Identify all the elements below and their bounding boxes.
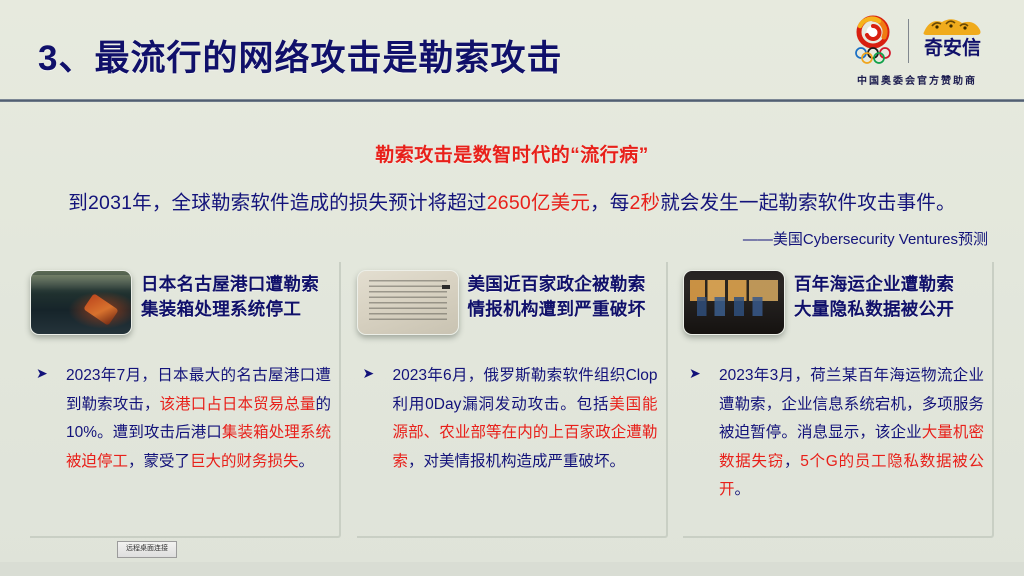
case-card-text: 2023年3月，荷兰某百年海运物流企业遭勒索，企业信息系统宕机，多项服务被迫暂停… bbox=[689, 362, 984, 505]
case-card-text: 2023年6月，俄罗斯勒索软件组织Clop利用0Day漏洞发动攻击。包括美国能源… bbox=[363, 362, 658, 476]
highlighted-text: 该港口占日本贸易总量 bbox=[160, 396, 316, 413]
plain-text: ，蒙受了 bbox=[128, 453, 190, 470]
case-card-text: 2023年7月，日本最大的名古屋港口遭到勒索攻击，该港口占日本贸易总量的10%。… bbox=[36, 362, 331, 476]
flame-swirl-icon bbox=[851, 15, 895, 49]
case-card-body: ➤ 2023年6月，俄罗斯勒索软件组织Clop利用0Day漏洞发动攻击。包括美国… bbox=[357, 356, 666, 476]
plain-text: 。 bbox=[735, 481, 751, 498]
plain-text: ， bbox=[784, 453, 800, 470]
case-card: 美国近百家政企被勒索 情报机构遭到严重破坏 ➤ 2023年6月，俄罗斯勒索软件组… bbox=[357, 262, 668, 538]
plain-text: 。 bbox=[299, 453, 315, 470]
brand-logo-row: 奇安信 bbox=[828, 12, 1006, 70]
case-card-header: 百年海运企业遭勒索 大量隐私数据被公开 bbox=[683, 262, 992, 356]
case-card-body: ➤ 2023年3月，荷兰某百年海运物流企业遭勒索，企业信息系统宕机，多项服务被迫… bbox=[683, 356, 992, 505]
bullet-arrow-icon: ➤ bbox=[36, 366, 48, 380]
header-divider bbox=[0, 99, 1024, 102]
brand-sponsor-line: 中国奥委会官方赞助商 bbox=[828, 72, 1006, 87]
case-card-body: ➤ 2023年7月，日本最大的名古屋港口遭到勒索攻击，该港口占日本贸易总量的10… bbox=[30, 356, 339, 476]
case-card-header: 日本名古屋港口遭勒索 集装箱处理系统停工 bbox=[30, 262, 339, 356]
remote-desktop-tray-button[interactable]: 远程桌面连接 bbox=[117, 541, 177, 558]
case-title-line: 美国近百家政企被勒索 bbox=[468, 272, 646, 297]
case-thumbnail-image bbox=[31, 271, 131, 334]
highlighted-text: 巨大的财务损失 bbox=[190, 453, 299, 470]
case-card-title: 美国近百家政企被勒索 情报机构遭到严重破坏 bbox=[468, 270, 646, 322]
highlighted-text: 2650亿美元 bbox=[487, 192, 590, 214]
olympic-rings-icon bbox=[854, 47, 892, 64]
case-thumbnail-image bbox=[358, 271, 458, 334]
plain-text: ，每 bbox=[590, 192, 629, 214]
qax-brand-name: 奇安信 bbox=[918, 37, 988, 61]
case-card-title: 日本名古屋港口遭勒索 集装箱处理系统停工 bbox=[141, 270, 319, 322]
plain-text: 就会发生一起勒索软件攻击事件。 bbox=[660, 192, 956, 214]
plain-text: 到2031年，全球勒索软件造成的损失预计将超过 bbox=[68, 192, 486, 214]
intro-source: ——美国Cybersecurity Ventures预测 bbox=[0, 228, 1024, 249]
case-title-line: 大量隐私数据被公开 bbox=[794, 297, 954, 322]
bullet-arrow-icon: ➤ bbox=[363, 366, 375, 380]
case-card-header: 美国近百家政企被勒索 情报机构遭到严重破坏 bbox=[357, 262, 666, 356]
slide-root: 3、最流行的网络攻击是勒索攻击 bbox=[0, 0, 1024, 576]
slide-header: 3、最流行的网络攻击是勒索攻击 bbox=[0, 0, 1024, 100]
case-thumbnail-image bbox=[684, 271, 784, 334]
qax-logo: 奇安信 bbox=[918, 14, 988, 68]
case-thumbnail bbox=[683, 270, 785, 335]
case-title-line: 情报机构遭到严重破坏 bbox=[468, 297, 646, 322]
case-card-list: 日本名古屋港口遭勒索 集装箱处理系统停工 ➤ 2023年7月，日本最大的名古屋港… bbox=[0, 262, 1024, 542]
mascot-icon bbox=[920, 14, 986, 38]
intro-headline: 勒索攻击是数智时代的“流行病” bbox=[0, 140, 1024, 167]
intro-block: 勒索攻击是数智时代的“流行病” 到2031年，全球勒索软件造成的损失预计将超过2… bbox=[0, 104, 1024, 249]
case-thumbnail bbox=[30, 270, 132, 335]
brand-divider bbox=[908, 19, 909, 63]
case-card: 日本名古屋港口遭勒索 集装箱处理系统停工 ➤ 2023年7月，日本最大的名古屋港… bbox=[30, 262, 341, 538]
brand-logo: 奇安信 中国奥委会官方赞助商 bbox=[828, 12, 1006, 94]
case-title-line: 百年海运企业遭勒索 bbox=[794, 272, 954, 297]
highlighted-text: 2秒 bbox=[629, 192, 660, 214]
case-title-line: 集装箱处理系统停工 bbox=[141, 297, 319, 322]
bullet-arrow-icon: ➤ bbox=[689, 366, 701, 380]
intro-body: 到2031年，全球勒索软件造成的损失预计将超过2650亿美元，每2秒就会发生一起… bbox=[0, 186, 1024, 215]
olympic-committee-mark bbox=[847, 15, 899, 67]
case-thumbnail bbox=[357, 270, 459, 335]
case-card: 百年海运企业遭勒索 大量隐私数据被公开 ➤ 2023年3月，荷兰某百年海运物流企… bbox=[683, 262, 994, 538]
plain-text: ，对美情报机构造成严重破坏。 bbox=[408, 453, 625, 470]
case-title-line: 日本名古屋港口遭勒索 bbox=[141, 272, 319, 297]
bottom-strip bbox=[0, 562, 1024, 576]
page-title: 3、最流行的网络攻击是勒索攻击 bbox=[38, 30, 562, 81]
case-card-title: 百年海运企业遭勒索 大量隐私数据被公开 bbox=[794, 270, 954, 322]
